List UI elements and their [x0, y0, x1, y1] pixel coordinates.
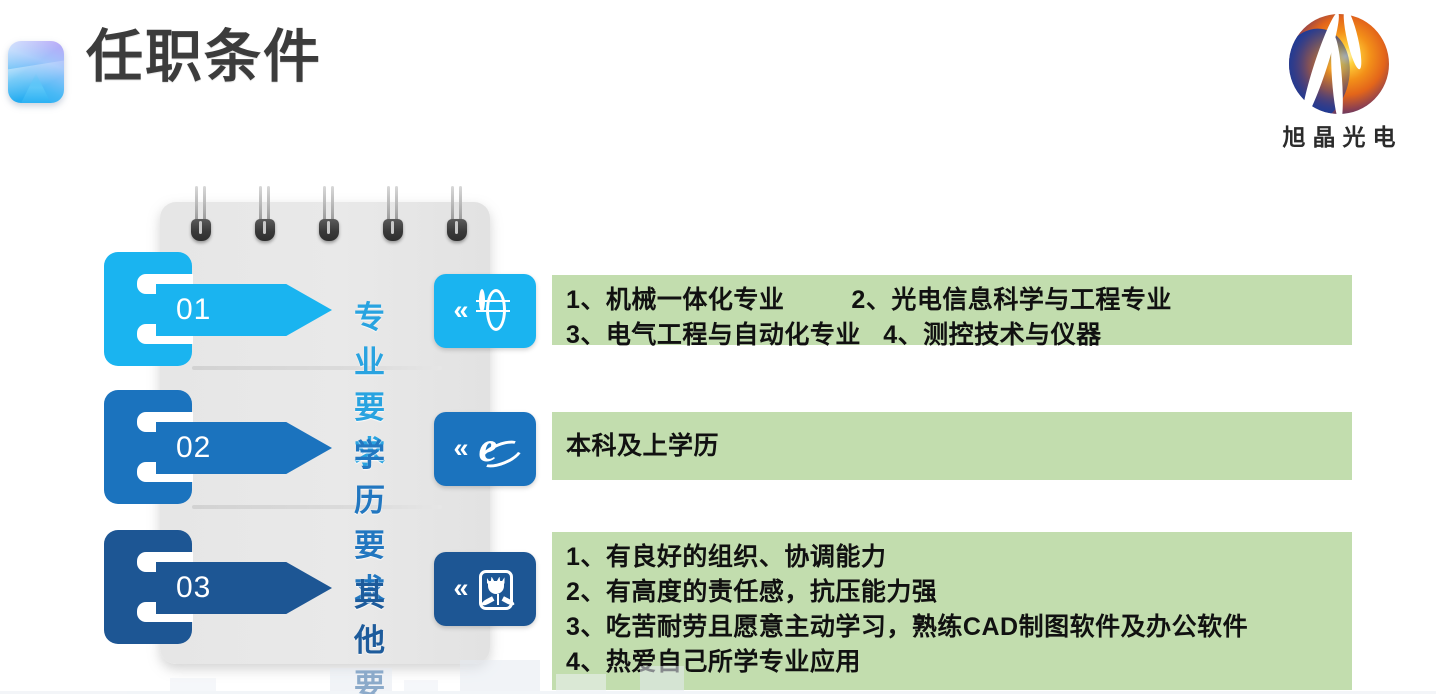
city-watermark — [0, 614, 1436, 694]
panel-line: 2、有高度的责任感，抗压能力强 — [566, 575, 1352, 610]
spiral-ring — [188, 186, 214, 248]
globe-icon — [479, 292, 517, 330]
tulip-icon — [479, 570, 517, 608]
panel-line: 1、机械一体化专业 2、光电信息科学与工程专业 — [566, 283, 1352, 318]
brand-logo: 旭晶光电 — [1254, 14, 1424, 152]
notebook-separator-2 — [192, 505, 442, 509]
gem-gradient-icon — [8, 41, 64, 103]
double-chevron-left-icon-1: « — [453, 297, 468, 324]
double-chevron-left-icon-3: « — [453, 575, 468, 602]
spiral-ring — [380, 186, 406, 248]
panel-line: 1、有良好的组织、协调能力 — [566, 540, 1352, 575]
row-number-1: 01 — [156, 293, 211, 327]
row-number-arrow-1: 01 — [156, 284, 332, 336]
slide-canvas: 任职条件 旭晶光电 — [0, 0, 1436, 694]
row-number-3: 03 — [156, 571, 211, 605]
spiral-ring — [444, 186, 470, 248]
panel-line: 3、电气工程与自动化专业 4、测控技术与仪器 — [566, 318, 1352, 353]
double-chevron-left-icon-2: « — [453, 435, 468, 462]
notebook-separator-1 — [192, 366, 442, 370]
requirement-panel-1: 1、机械一体化专业 2、光电信息科学与工程专业 3、电气工程与自动化专业 4、测… — [552, 275, 1352, 345]
page-title: 任职条件 — [86, 29, 322, 86]
row-icon-box-1[interactable]: « — [434, 274, 536, 348]
sphere-logo-icon — [1284, 14, 1394, 116]
row-number-2: 02 — [156, 431, 211, 465]
row-number-arrow-2: 02 — [156, 422, 332, 474]
brand-name: 旭晶光电 — [1254, 118, 1424, 152]
internet-explorer-icon: e — [479, 430, 517, 468]
spiral-ring — [252, 186, 278, 248]
row-icon-box-2[interactable]: « e — [434, 412, 536, 486]
panel-line: 本科及上学历 — [566, 429, 719, 464]
row-number-arrow-3: 03 — [156, 562, 332, 614]
slide-header: 任职条件 旭晶光电 — [0, 0, 1436, 150]
spiral-ring — [316, 186, 342, 248]
notebook-spiral-rings — [160, 186, 490, 256]
requirement-panel-2: 本科及上学历 — [552, 412, 1352, 480]
